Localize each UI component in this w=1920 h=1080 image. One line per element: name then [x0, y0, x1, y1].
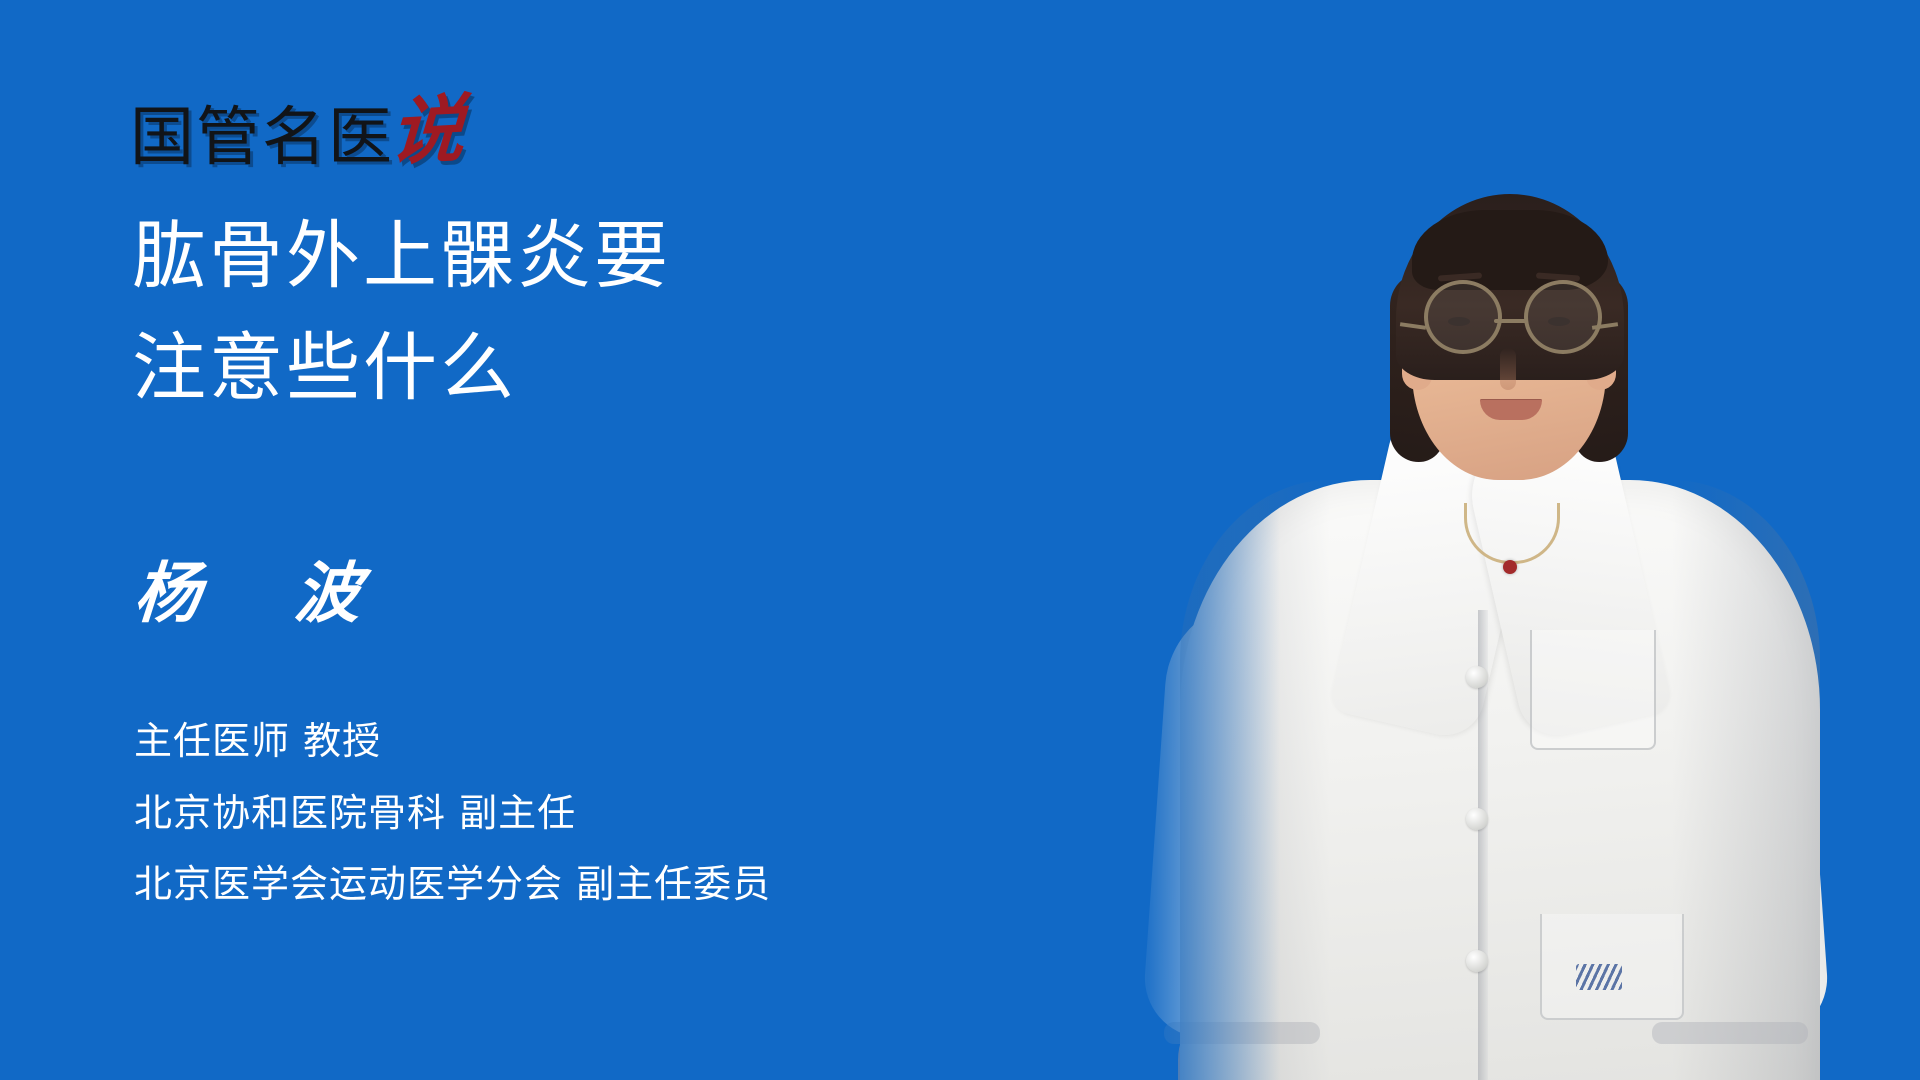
presenter-photo — [1060, 0, 1920, 1080]
glasses-lens-left — [1424, 280, 1502, 354]
photo-edge-fade — [1060, 0, 1280, 1080]
page-title-line-2: 注意些什么 — [132, 312, 892, 424]
coat-cuff-right — [1652, 1022, 1808, 1044]
coat-button-top — [1466, 666, 1488, 688]
doctor-credentials: 主任医师 教授 北京协和医院骨科 副主任 北京医学会运动医学分会 副主任委员 — [134, 720, 771, 907]
coat-chest-pocket — [1530, 630, 1656, 750]
coat-button-bottom — [1466, 950, 1488, 972]
nose — [1500, 348, 1516, 390]
doctor-name: 杨 波 — [132, 560, 377, 626]
coat-shading-right — [1672, 480, 1820, 1080]
credential-line-2: 北京协和医院骨科 副主任 — [134, 792, 771, 836]
necklace-pendant — [1503, 560, 1517, 574]
glasses-lens-right — [1524, 280, 1602, 354]
glasses-bridge — [1494, 319, 1526, 323]
brand-logo-accent-text: 说 — [388, 92, 466, 170]
brand-logo-main-text: 国管名医 — [130, 106, 394, 170]
coat-button-middle — [1466, 808, 1488, 830]
credential-line-1: 主任医师 教授 — [134, 720, 771, 764]
video-cover-slide: 国管名医 说 肱骨外上髁炎要 注意些什么 杨 波 主任医师 教授 北京协和医院骨… — [0, 0, 1920, 1080]
credential-line-3: 北京医学会运动医学分会 副主任委员 — [134, 863, 771, 907]
page-title-line-1: 肱骨外上髁炎要 — [132, 200, 892, 312]
page-title: 肱骨外上髁炎要 注意些什么 — [132, 200, 892, 425]
brand-logo: 国管名医 说 — [130, 96, 462, 170]
coat-pocket-emblem-icon — [1576, 964, 1622, 990]
